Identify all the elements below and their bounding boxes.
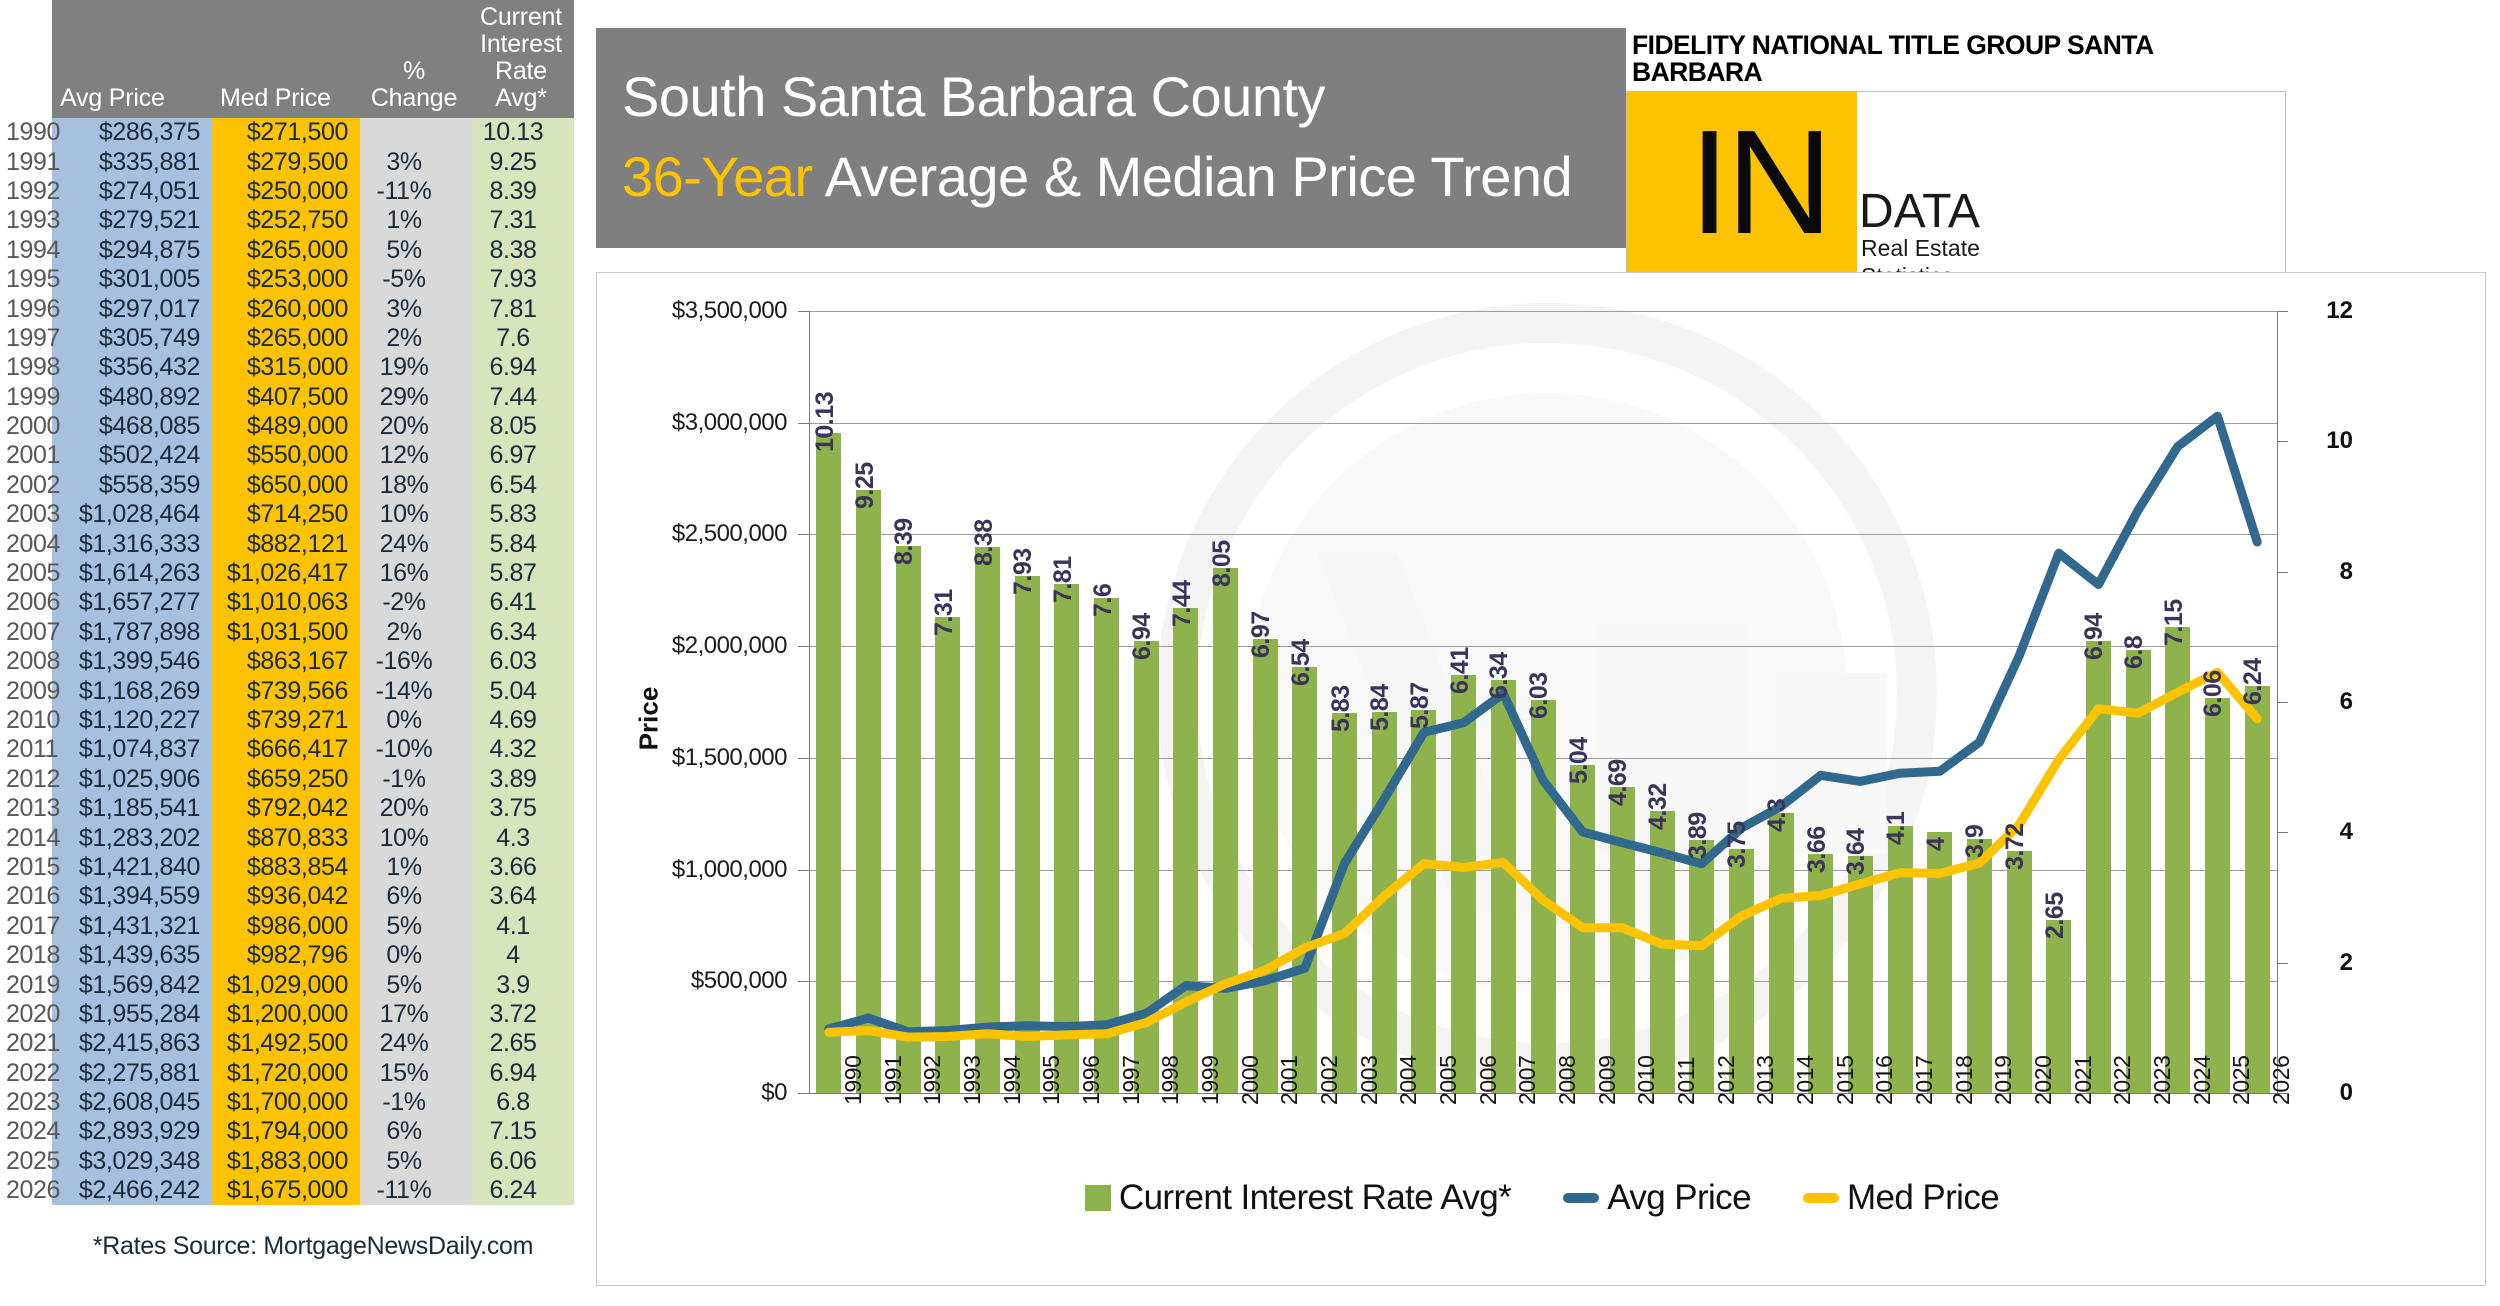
bar — [935, 617, 960, 1093]
x-axis-tick-label: 1992 — [919, 1055, 946, 1105]
cell-med: $1,200,000 — [212, 1000, 360, 1029]
cell-med: $986,000 — [212, 912, 360, 941]
column-header-interest-rate: CurrentInterest RateAvg* — [472, 0, 574, 118]
y-axis-left-spine — [809, 311, 810, 1093]
logo-in-mark: IN — [1689, 108, 1829, 259]
cell-pct: 3% — [360, 147, 472, 176]
cell-rate: 2.65 — [472, 1029, 574, 1058]
cell-pct: 0% — [360, 706, 472, 735]
cell-med: $1,031,500 — [212, 618, 360, 647]
cell-avg: $1,399,546 — [52, 647, 212, 676]
cell-pct: 5% — [360, 912, 472, 941]
bar-value-label: 3.9 — [1961, 825, 1990, 858]
y2-axis-tick — [2277, 572, 2288, 573]
cell-pct: 12% — [360, 441, 472, 470]
cell-rate: 4 — [472, 941, 574, 970]
bar — [1411, 710, 1436, 1093]
cell-year: 2010 — [0, 706, 52, 735]
cell-pct: -2% — [360, 588, 472, 617]
cell-pct: 1% — [360, 206, 472, 235]
y2-axis-tick — [2277, 311, 2288, 312]
bar — [2086, 641, 2111, 1093]
cell-med: $253,000 — [212, 265, 360, 294]
x-axis-tick-label: 2021 — [2070, 1055, 2097, 1105]
cell-rate: 4.3 — [472, 823, 574, 852]
cell-med: $1,492,500 — [212, 1029, 360, 1058]
cell-avg: $2,415,863 — [52, 1029, 212, 1058]
table-row: 2004$1,316,333$882,12124%5.84 — [0, 529, 574, 558]
table-row: 2021$2,415,863$1,492,50024%2.65 — [0, 1029, 574, 1058]
cell-avg: $305,749 — [52, 324, 212, 353]
y-axis-tick — [798, 1093, 809, 1094]
cell-med: $1,794,000 — [212, 1117, 360, 1146]
cell-year: 2003 — [0, 500, 52, 529]
bar — [1253, 639, 1278, 1093]
cell-pct: 29% — [360, 383, 472, 412]
table-row: 2020$1,955,284$1,200,00017%3.72 — [0, 1000, 574, 1029]
bar-value-label: 5.84 — [1366, 685, 1395, 732]
x-axis-tick-label: 2011 — [1673, 1057, 1700, 1105]
cell-med: $550,000 — [212, 441, 360, 470]
table-row: 2010$1,120,227$739,2710%4.69 — [0, 706, 574, 735]
column-header-med-price: Med Price — [212, 0, 360, 118]
bar-value-label: 6.8 — [2120, 636, 2149, 669]
table-row: 2023$2,608,045$1,700,000-1%6.8 — [0, 1088, 574, 1117]
gridline — [809, 311, 2277, 312]
x-axis-tick-label: 2003 — [1356, 1055, 1383, 1105]
bar-value-label: 7.6 — [1089, 583, 1118, 616]
cell-pct: 3% — [360, 294, 472, 323]
cell-rate: 7.44 — [472, 383, 574, 412]
cell-avg: $1,025,906 — [52, 765, 212, 794]
bar-value-label: 6.41 — [1446, 648, 1475, 695]
cell-avg: $3,029,348 — [52, 1147, 212, 1176]
bar-value-label: 7.31 — [930, 589, 959, 636]
cell-med: $650,000 — [212, 471, 360, 500]
cell-med: $863,167 — [212, 647, 360, 676]
table-row: 1999$480,892$407,50029%7.44 — [0, 383, 574, 412]
legend-item[interactable]: Med Price — [1803, 1178, 1999, 1218]
bar — [1173, 608, 1198, 1093]
cell-rate: 3.66 — [472, 853, 574, 882]
cell-avg: $297,017 — [52, 294, 212, 323]
bar-value-label: 5.87 — [1406, 683, 1435, 730]
cell-med: $792,042 — [212, 794, 360, 823]
x-axis-tick-label: 2020 — [2030, 1055, 2057, 1105]
cell-avg: $1,787,898 — [52, 618, 212, 647]
cell-pct: 6% — [360, 882, 472, 911]
y2-axis-tick — [2277, 441, 2288, 442]
table-row: 2012$1,025,906$659,250-1%3.89 — [0, 765, 574, 794]
table-row: 1996$297,017$260,0003%7.81 — [0, 294, 574, 323]
cell-rate: 5.84 — [472, 529, 574, 558]
cell-year: 1992 — [0, 177, 52, 206]
cell-rate: 10.13 — [472, 118, 574, 147]
cell-avg: $301,005 — [52, 265, 212, 294]
cell-avg: $502,424 — [52, 441, 212, 470]
y-axis-tick — [798, 981, 809, 982]
cell-avg: $1,316,333 — [52, 529, 212, 558]
table-row: 1992$274,051$250,000-11%8.39 — [0, 177, 574, 206]
x-axis-tick-label: 1994 — [999, 1055, 1026, 1105]
price-history-table: Avg Price Med Price %Change CurrentInter… — [0, 0, 574, 1205]
cell-pct: -14% — [360, 676, 472, 705]
cell-pct: 20% — [360, 794, 472, 823]
bar-value-label: 6.97 — [1247, 611, 1276, 658]
cell-pct: -5% — [360, 265, 472, 294]
bar-value-label: 6.54 — [1287, 639, 1316, 686]
cell-pct: -11% — [360, 177, 472, 206]
x-axis-tick-label: 2026 — [2268, 1055, 2295, 1105]
x-axis-tick-label: 2007 — [1514, 1055, 1541, 1105]
bar — [896, 546, 921, 1093]
y-axis-tick-label: $2,500,000 — [597, 520, 787, 548]
cell-year: 2013 — [0, 794, 52, 823]
bar — [2205, 698, 2230, 1093]
table-row: 2006$1,657,277$1,010,063-2%6.41 — [0, 588, 574, 617]
table-row: 2000$468,085$489,00020%8.05 — [0, 412, 574, 441]
cell-rate: 3.9 — [472, 970, 574, 999]
bar — [1054, 584, 1079, 1093]
table-footnote: *Rates Source: MortgageNewsDaily.com — [52, 1232, 574, 1261]
table-row: 2018$1,439,635$982,7960%4 — [0, 941, 574, 970]
cell-rate: 5.87 — [472, 559, 574, 588]
bar-value-label: 4 — [1922, 838, 1951, 851]
x-axis-tick-label: 2019 — [1990, 1055, 2017, 1105]
cell-pct: 10% — [360, 823, 472, 852]
y2-axis-tick-label: 6 — [2307, 688, 2353, 716]
cell-pct: -1% — [360, 1088, 472, 1117]
cell-year: 2012 — [0, 765, 52, 794]
y-axis-tick-label: $0 — [597, 1079, 787, 1107]
cell-year: 2001 — [0, 441, 52, 470]
cell-pct: 18% — [360, 471, 472, 500]
cell-avg: $480,892 — [52, 383, 212, 412]
bar-value-label: 6.94 — [1128, 613, 1157, 660]
cell-med: $936,042 — [212, 882, 360, 911]
logo-subtitle-line-1: Real Estate — [1861, 234, 1980, 262]
cell-avg: $2,275,881 — [52, 1059, 212, 1088]
cell-med: $265,000 — [212, 236, 360, 265]
cell-year: 1990 — [0, 118, 52, 147]
bar — [1769, 813, 1794, 1093]
bar — [2245, 686, 2270, 1093]
y-axis-tick-label: $3,500,000 — [597, 297, 787, 325]
cell-med: $1,026,417 — [212, 559, 360, 588]
bar — [1689, 840, 1714, 1093]
cell-rate: 6.97 — [472, 441, 574, 470]
company-logo-block: FIDELITY NATIONAL TITLE GROUP SANTA BARB… — [1626, 28, 2286, 250]
logo-body: IN DATA Real Estate Statistics — [1626, 91, 2286, 279]
gridline — [809, 423, 2277, 424]
bar-value-label: 4.69 — [1604, 760, 1633, 807]
cell-rate: 6.8 — [472, 1088, 574, 1117]
cell-year: 2020 — [0, 1000, 52, 1029]
cell-rate: 5.04 — [472, 676, 574, 705]
cell-year: 2004 — [0, 529, 52, 558]
cell-med: $250,000 — [212, 177, 360, 206]
cell-year: 2019 — [0, 970, 52, 999]
y-axis-tick — [798, 870, 809, 871]
y2-axis-tick-label: 4 — [2307, 818, 2353, 846]
bar — [1213, 568, 1238, 1093]
table-row: 2025$3,029,348$1,883,0005%6.06 — [0, 1147, 574, 1176]
cell-rate: 7.31 — [472, 206, 574, 235]
y-axis-tick — [798, 311, 809, 312]
cell-pct: 17% — [360, 1000, 472, 1029]
bar — [1372, 712, 1397, 1093]
cell-rate: 8.05 — [472, 412, 574, 441]
x-axis-tick-label: 2024 — [2189, 1055, 2216, 1105]
cell-pct: -1% — [360, 765, 472, 794]
cell-pct: 24% — [360, 529, 472, 558]
cell-pct: 19% — [360, 353, 472, 382]
bar — [1292, 667, 1317, 1093]
banner-line-1: South Santa Barbara County — [622, 64, 1626, 130]
cell-med: $489,000 — [212, 412, 360, 441]
bar — [1610, 787, 1635, 1093]
bar-value-label: 3.72 — [2001, 823, 2030, 870]
cell-pct — [360, 118, 472, 147]
cell-pct: 10% — [360, 500, 472, 529]
bar-value-label: 8.39 — [890, 519, 919, 566]
cell-med: $1,720,000 — [212, 1059, 360, 1088]
y-axis-tick-label: $1,500,000 — [597, 744, 787, 772]
table-row: 1997$305,749$265,0002%7.6 — [0, 324, 574, 353]
bar-value-label: 4.32 — [1644, 784, 1673, 831]
y-axis-tick-label: $1,000,000 — [597, 856, 787, 884]
cell-avg: $1,955,284 — [52, 1000, 212, 1029]
cell-avg: $558,359 — [52, 471, 212, 500]
cell-med: $882,121 — [212, 529, 360, 558]
y-axis-tick — [798, 423, 809, 424]
cell-avg: $279,521 — [52, 206, 212, 235]
cell-med: $252,750 — [212, 206, 360, 235]
cell-year: 2026 — [0, 1176, 52, 1205]
bar-value-label: 6.03 — [1525, 672, 1554, 719]
bar — [1531, 700, 1556, 1093]
x-axis-tick-label: 2022 — [2109, 1055, 2136, 1105]
cell-year: 2023 — [0, 1088, 52, 1117]
cell-rate: 9.25 — [472, 147, 574, 176]
x-axis-tick-label: 2012 — [1713, 1055, 1740, 1105]
table-row: 2009$1,168,269$739,566-14%5.04 — [0, 676, 574, 705]
cell-year: 2024 — [0, 1117, 52, 1146]
table-row: 2013$1,185,541$792,04220%3.75 — [0, 794, 574, 823]
chart-legend: Current Interest Rate Avg*Avg PriceMed P… — [597, 1178, 2487, 1218]
cell-year: 1993 — [0, 206, 52, 235]
x-axis-tick-label: 2018 — [1951, 1055, 1978, 1105]
bar-value-label: 6.06 — [2199, 670, 2228, 717]
cell-med: $1,883,000 — [212, 1147, 360, 1176]
cell-rate: 6.94 — [472, 1059, 574, 1088]
bar-value-label: 5.83 — [1327, 685, 1356, 732]
bar-value-label: 4.1 — [1882, 812, 1911, 845]
y2-axis-tick-label: 8 — [2307, 558, 2353, 586]
bar-value-label: 4.3 — [1763, 799, 1792, 832]
cell-rate: 8.38 — [472, 236, 574, 265]
cell-avg: $1,283,202 — [52, 823, 212, 852]
bar — [975, 547, 1000, 1093]
cell-pct: 5% — [360, 970, 472, 999]
cell-rate: 3.64 — [472, 882, 574, 911]
cell-rate: 5.83 — [472, 500, 574, 529]
bar-value-label: 6.94 — [2080, 613, 2109, 660]
cell-med: $279,500 — [212, 147, 360, 176]
x-axis-tick-label: 2010 — [1633, 1055, 1660, 1105]
cell-rate: 4.1 — [472, 912, 574, 941]
cell-rate: 7.6 — [472, 324, 574, 353]
cell-avg: $1,185,541 — [52, 794, 212, 823]
cell-pct: -11% — [360, 1176, 472, 1205]
table-row: 2019$1,569,842$1,029,0005%3.9 — [0, 970, 574, 999]
cell-rate: 4.32 — [472, 735, 574, 764]
column-header-avg-price: Avg Price — [52, 0, 212, 118]
bar-value-label: 7.44 — [1168, 580, 1197, 627]
cell-med: $666,417 — [212, 735, 360, 764]
cell-pct: 6% — [360, 1117, 472, 1146]
cell-year: 1994 — [0, 236, 52, 265]
cell-year: 2009 — [0, 676, 52, 705]
table-row: 2024$2,893,929$1,794,0006%7.15 — [0, 1117, 574, 1146]
bar — [1451, 675, 1476, 1093]
y-axis-tick-label: $500,000 — [597, 967, 787, 995]
cell-pct: -16% — [360, 647, 472, 676]
cell-med: $739,271 — [212, 706, 360, 735]
cell-med: $883,854 — [212, 853, 360, 882]
bar — [2165, 627, 2190, 1093]
cell-pct: 1% — [360, 853, 472, 882]
bar-value-label: 3.64 — [1842, 828, 1871, 875]
bar — [1570, 765, 1595, 1093]
cell-pct: 20% — [360, 412, 472, 441]
bar — [1332, 713, 1357, 1093]
x-axis-tick-label: 2017 — [1911, 1055, 1938, 1105]
cell-avg: $1,657,277 — [52, 588, 212, 617]
x-axis-tick-label: 2023 — [2149, 1055, 2176, 1105]
bar-value-label: 6.24 — [2239, 659, 2268, 706]
y2-axis-tick-label: 0 — [2307, 1079, 2353, 1107]
cell-year: 2007 — [0, 618, 52, 647]
cell-pct: -10% — [360, 735, 472, 764]
cell-rate: 3.75 — [472, 794, 574, 823]
y-axis-tick — [798, 534, 809, 535]
x-axis-tick-label: 2009 — [1594, 1055, 1621, 1105]
column-header-year — [0, 0, 52, 118]
cell-rate: 6.94 — [472, 353, 574, 382]
table-row: 2016$1,394,559$936,0426%3.64 — [0, 882, 574, 911]
bar — [856, 490, 881, 1093]
cell-year: 2002 — [0, 471, 52, 500]
cell-rate: 6.24 — [472, 1176, 574, 1205]
cell-year: 2022 — [0, 1059, 52, 1088]
table-row: 1990$286,375$271,50010.13 — [0, 118, 574, 147]
table-row: 2005$1,614,263$1,026,41716%5.87 — [0, 559, 574, 588]
cell-year: 2018 — [0, 941, 52, 970]
table-body: 1990$286,375$271,50010.131991$335,881$27… — [0, 118, 574, 1205]
cell-year: 2017 — [0, 912, 52, 941]
bar — [1650, 811, 1675, 1093]
cell-year: 2011 — [0, 735, 52, 764]
cell-med: $739,566 — [212, 676, 360, 705]
table-header: Avg Price Med Price %Change CurrentInter… — [0, 0, 574, 118]
cell-avg: $1,614,263 — [52, 559, 212, 588]
cell-year: 1997 — [0, 324, 52, 353]
y-axis-tick — [798, 646, 809, 647]
cell-year: 1998 — [0, 353, 52, 382]
cell-pct: 5% — [360, 1147, 472, 1176]
y-axis-tick-label: $2,000,000 — [597, 632, 787, 660]
table-row: 2011$1,074,837$666,417-10%4.32 — [0, 735, 574, 764]
cell-avg: $1,421,840 — [52, 853, 212, 882]
y2-axis-tick-label: 2 — [2307, 949, 2353, 977]
bar — [1134, 641, 1159, 1093]
x-axis-tick-label: 2000 — [1237, 1055, 1264, 1105]
cell-avg: $2,466,242 — [52, 1176, 212, 1205]
x-axis-tick-label: 1997 — [1118, 1055, 1145, 1105]
x-axis-tick-label: 1995 — [1038, 1055, 1065, 1105]
cell-avg: $1,394,559 — [52, 882, 212, 911]
table-row: 2008$1,399,546$863,167-16%6.03 — [0, 647, 574, 676]
table-row: 2015$1,421,840$883,8541%3.66 — [0, 853, 574, 882]
x-axis-tick-label: 2004 — [1395, 1055, 1422, 1105]
y2-axis-tick — [2277, 963, 2288, 964]
banner-line-2: 36-Year Average & Median Price Trend — [622, 144, 1626, 210]
table-row: 1995$301,005$253,000-5%7.93 — [0, 265, 574, 294]
cell-year: 2016 — [0, 882, 52, 911]
cell-avg: $335,881 — [52, 147, 212, 176]
x-axis-tick-label: 2008 — [1554, 1055, 1581, 1105]
bar-value-label: 7.81 — [1049, 556, 1078, 603]
bar — [1094, 598, 1119, 1093]
bar-value-label: 3.66 — [1803, 827, 1832, 874]
x-axis-tick-label: 2013 — [1752, 1055, 1779, 1105]
cell-pct: 16% — [360, 559, 472, 588]
legend-label: Med Price — [1847, 1178, 1999, 1218]
cell-avg: $274,051 — [52, 177, 212, 206]
legend-item[interactable]: Current Interest Rate Avg* — [1085, 1178, 1511, 1218]
cell-med: $1,010,063 — [212, 588, 360, 617]
cell-rate: 6.54 — [472, 471, 574, 500]
legend-item[interactable]: Avg Price — [1563, 1178, 1751, 1218]
cell-avg: $1,168,269 — [52, 676, 212, 705]
cell-rate: 6.06 — [472, 1147, 574, 1176]
company-name-label: FIDELITY NATIONAL TITLE GROUP SANTA BARB… — [1626, 28, 2286, 91]
cell-rate: 7.81 — [472, 294, 574, 323]
x-axis-tick-label: 2001 — [1276, 1055, 1303, 1105]
cell-med: $265,000 — [212, 324, 360, 353]
y2-axis-tick — [2277, 702, 2288, 703]
bar — [816, 433, 841, 1093]
bar — [1927, 832, 1952, 1093]
cell-pct: 15% — [360, 1059, 472, 1088]
table-row: 2017$1,431,321$986,0005%4.1 — [0, 912, 574, 941]
cell-year: 2025 — [0, 1147, 52, 1176]
x-axis-tick-label: 1998 — [1157, 1055, 1184, 1105]
bar-value-label: 2.65 — [2041, 893, 2070, 940]
cell-med: $659,250 — [212, 765, 360, 794]
cell-avg: $294,875 — [52, 236, 212, 265]
title-banner: South Santa Barbara County 36-Year Avera… — [596, 28, 1626, 248]
cell-year: 1995 — [0, 265, 52, 294]
x-axis-tick-label: 2025 — [2228, 1055, 2255, 1105]
table-row: 2001$502,424$550,00012%6.97 — [0, 441, 574, 470]
y2-axis-tick-label: 10 — [2307, 427, 2353, 455]
cell-med: $315,000 — [212, 353, 360, 382]
cell-year: 2006 — [0, 588, 52, 617]
cell-year: 2000 — [0, 412, 52, 441]
table-row: 2007$1,787,898$1,031,5002%6.34 — [0, 618, 574, 647]
